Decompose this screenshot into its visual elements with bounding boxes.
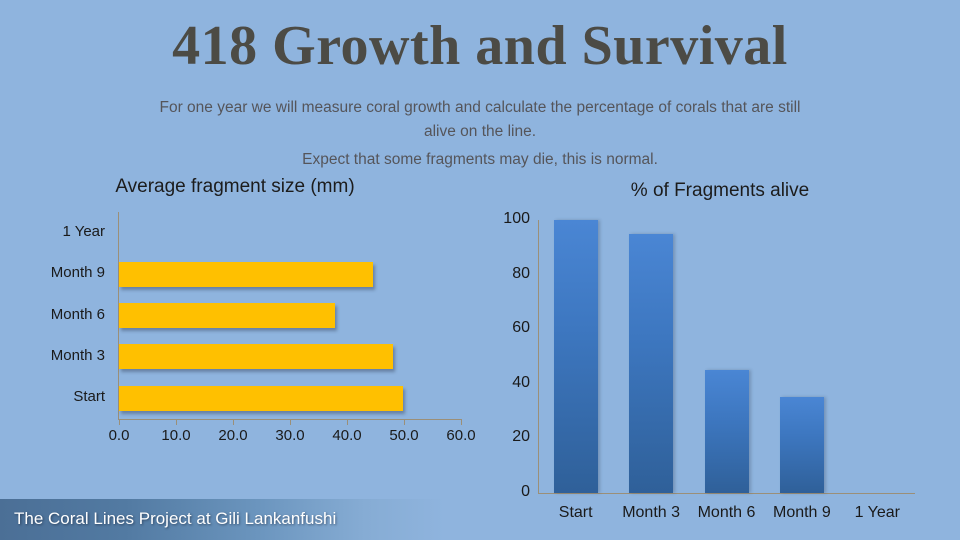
chart-left-x-tick [404, 419, 405, 425]
chart-right-y-tick-label: 20 [480, 428, 530, 446]
chart-left-category-label: Month 6 [0, 306, 105, 323]
chart-right-y-tick-label: 100 [480, 210, 530, 228]
chart-left-x-tick [290, 419, 291, 425]
chart-right-category-label: 1 Year [832, 504, 922, 522]
chart-left-x-tick [233, 419, 234, 425]
chart-left-x-tick-label: 20.0 [203, 427, 263, 444]
slide-subtitle: For one year we will measure coral growt… [150, 96, 810, 172]
chart-right-y-tick-label: 0 [480, 483, 530, 501]
chart-right-y-tick-label: 60 [480, 319, 530, 337]
slide-canvas: 418 Growth and Survival For one year we … [0, 0, 960, 540]
chart-left-x-tick [176, 419, 177, 425]
chart-left-x-tick-label: 10.0 [146, 427, 206, 444]
page-title: 418 Growth and Survival [0, 16, 960, 76]
chart-left-category-label: Month 3 [0, 347, 105, 364]
chart-left-x-tick-label: 40.0 [317, 427, 377, 444]
chart-left-bar [119, 262, 373, 287]
chart-left-x-tick-label: 0.0 [89, 427, 149, 444]
chart-right-title: % of Fragments alive [510, 180, 930, 202]
footer-text: The Coral Lines Project at Gili Lankanfu… [14, 509, 336, 529]
chart-average-fragment-size: Average fragment size (mm) StartMonth 3M… [0, 176, 480, 466]
subtitle-line-1: For one year we will measure coral growt… [160, 99, 801, 140]
chart-left-x-tick [461, 419, 462, 425]
chart-right-y-tick-label: 80 [480, 265, 530, 283]
chart-left-x-tick-label: 30.0 [260, 427, 320, 444]
chart-right-category-axis [538, 493, 915, 494]
chart-right-bar [554, 220, 598, 493]
chart-left-bar [119, 386, 403, 411]
chart-left-x-tick [119, 419, 120, 425]
chart-left-category-label: Month 9 [0, 264, 105, 281]
chart-percent-fragments-alive: % of Fragments alive StartMonth 3Month 6… [480, 176, 960, 540]
chart-right-y-tick-label: 40 [480, 374, 530, 392]
chart-right-bar [780, 397, 824, 493]
chart-right-bar [705, 370, 749, 493]
chart-left-category-label: 1 Year [0, 223, 105, 240]
chart-right-bar [629, 234, 673, 493]
chart-left-title: Average fragment size (mm) [0, 176, 470, 198]
chart-left-x-tick [347, 419, 348, 425]
subtitle-line-2: Expect that some fragments may die, this… [150, 148, 810, 172]
chart-right-value-axis [538, 220, 539, 493]
chart-right-plot-area: StartMonth 3Month 6Month 91 Year02040608… [538, 220, 915, 493]
chart-left-x-tick-label: 50.0 [374, 427, 434, 444]
chart-left-bar [119, 303, 335, 328]
chart-left-category-label: Start [0, 388, 105, 405]
chart-left-plot-area: StartMonth 3Month 6Month 91 Year0.010.02… [119, 212, 461, 419]
chart-left-bar [119, 344, 393, 369]
